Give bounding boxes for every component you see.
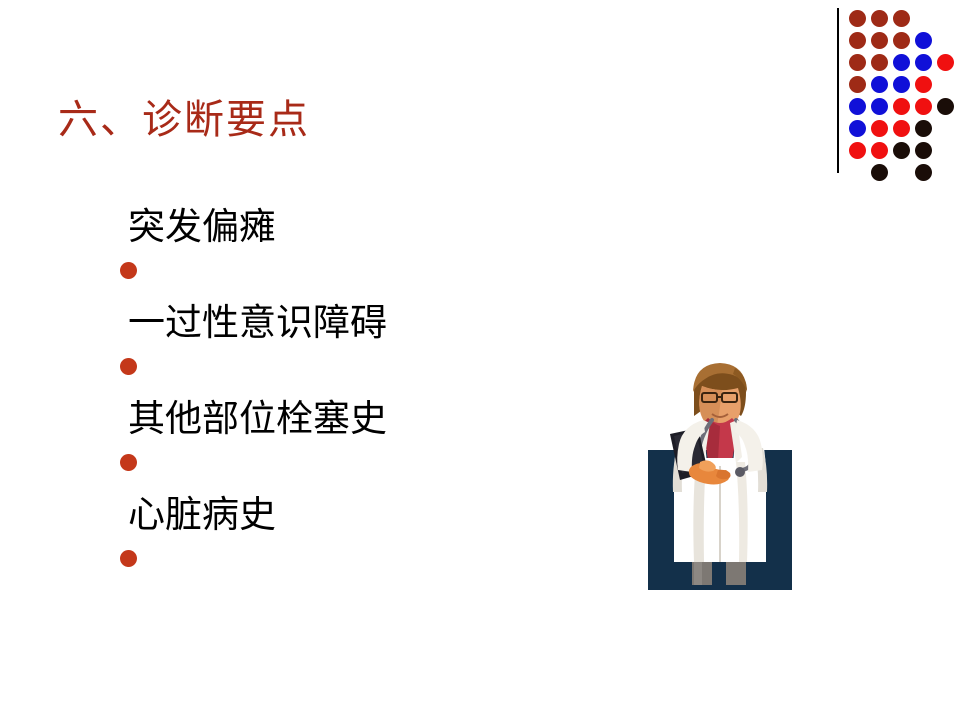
decorative-dot (915, 120, 932, 137)
decorative-dot (871, 76, 888, 93)
decorative-dot (849, 76, 866, 93)
decorative-dot (937, 98, 954, 115)
decorative-dot (849, 98, 866, 115)
list-item-label: 心脏病史 (128, 493, 276, 537)
decorative-dot (915, 142, 932, 159)
decorative-dot (871, 120, 888, 137)
decorative-dot (849, 120, 866, 137)
decorative-dot (893, 54, 910, 71)
decorative-dot (893, 76, 910, 93)
decorative-dot (915, 32, 932, 49)
decorative-dot (893, 98, 910, 115)
decorative-dot (871, 142, 888, 159)
bullet-marker-icon (120, 454, 137, 471)
decorative-dot (915, 164, 932, 181)
bullet-marker-icon (120, 358, 137, 375)
decorative-dot (915, 98, 932, 115)
decorative-dot (871, 10, 888, 27)
decorative-dot-grid (849, 10, 953, 165)
decorative-dot (849, 142, 866, 159)
decorative-dot (893, 10, 910, 27)
slide-title: 六、诊断要点 (58, 97, 310, 143)
decorative-dot (849, 54, 866, 71)
decorative-dot (915, 76, 932, 93)
list-item: 突发偏瘫 (118, 200, 638, 296)
decorative-dot (893, 142, 910, 159)
list-item: 其他部位栓塞史 (118, 392, 638, 488)
list-item: 心脏病史 (118, 488, 638, 584)
decorative-dot (871, 32, 888, 49)
decorative-dot (849, 32, 866, 49)
bullet-marker-icon (120, 550, 137, 567)
decorative-dot (871, 164, 888, 181)
presentation-slide: 六、诊断要点 突发偏瘫 一过性意识障碍 其他部位栓塞史 心脏病史 (0, 0, 960, 720)
bullet-marker-icon (120, 262, 137, 279)
list-item-label: 突发偏瘫 (128, 205, 276, 249)
bullet-list: 突发偏瘫 一过性意识障碍 其他部位栓塞史 心脏病史 (118, 200, 638, 584)
list-item-label: 一过性意识障碍 (128, 301, 387, 345)
decorative-dot (893, 120, 910, 137)
decorative-vertical-rule (837, 8, 839, 173)
decorative-dot (871, 98, 888, 115)
decorative-dot (849, 10, 866, 27)
decorative-dot (937, 54, 954, 71)
list-item-label: 其他部位栓塞史 (128, 397, 387, 441)
decorative-dot (871, 54, 888, 71)
list-item: 一过性意识障碍 (118, 296, 638, 392)
doctor-illustration (640, 362, 800, 594)
decorative-dot (893, 32, 910, 49)
decorative-dot (915, 54, 932, 71)
